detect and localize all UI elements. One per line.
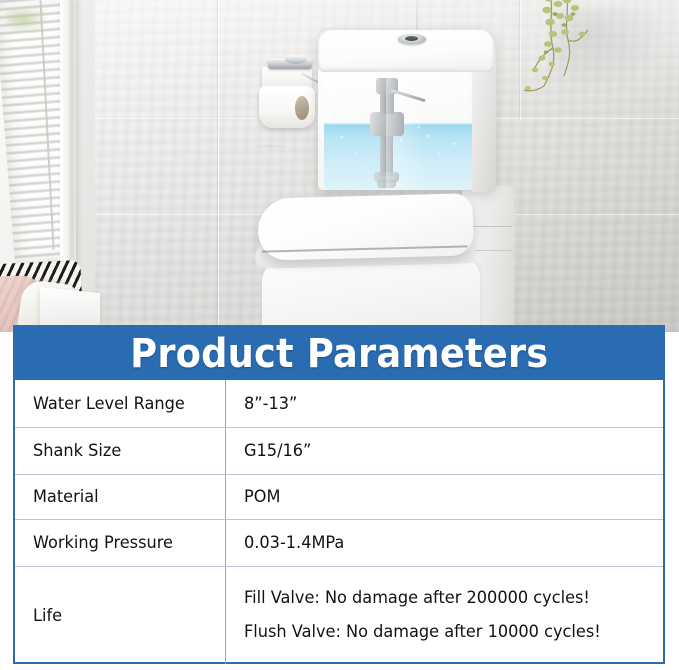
product-parameters-table: Product Parameters Water Level Range 8”-… xyxy=(13,325,665,664)
tank-lid-edge xyxy=(322,68,490,72)
flush-button-inner xyxy=(405,36,418,41)
page-title: Product Parameters xyxy=(130,334,548,374)
table-row-label: Material xyxy=(15,475,226,519)
table-row-label: Water Level Range xyxy=(15,380,226,427)
label-text: Water Level Range xyxy=(33,394,185,414)
value-text-line-1: Fill Valve: No damage after 200000 cycle… xyxy=(244,582,642,615)
value-text: POM xyxy=(244,487,642,507)
label-text: Life xyxy=(33,606,62,626)
table-row-value: POM xyxy=(226,475,663,519)
tank-cutaway-view xyxy=(324,72,472,190)
product-parameters-page: Product Parameters Water Level Range 8”-… xyxy=(0,0,679,670)
product-photo xyxy=(0,0,679,332)
table-row-value: Fill Valve: No damage after 200000 cycle… xyxy=(226,567,663,664)
table-row: Shank Size G15/16” xyxy=(15,427,663,474)
table-row: Working Pressure 0.03-1.4MPa xyxy=(15,519,663,566)
table-row: Water Level Range 8”-13” xyxy=(15,380,663,427)
value-text: G15/16” xyxy=(244,441,642,461)
table-row: Material POM xyxy=(15,474,663,519)
value-text: 8”-13” xyxy=(244,394,642,414)
table-row: Life Fill Valve: No damage after 200000 … xyxy=(15,566,663,664)
toilet-bowl xyxy=(262,258,480,332)
tile-grout-line xyxy=(218,0,219,332)
toilet-paper-core xyxy=(295,96,309,120)
label-text: Working Pressure xyxy=(33,533,173,553)
value-text: 0.03-1.4MPa xyxy=(244,533,642,553)
table-row-label: Life xyxy=(15,567,226,664)
table-row-value: G15/16” xyxy=(226,428,663,474)
table-body: Water Level Range 8”-13” Shank Size G15/… xyxy=(15,380,663,664)
table-row-value: 0.03-1.4MPa xyxy=(226,520,663,566)
table-row-label: Shank Size xyxy=(15,428,226,474)
glass-reflection xyxy=(386,72,426,190)
value-text-line-2: Flush Valve: No damage after 10000 cycle… xyxy=(244,616,642,649)
table-row-value: 8”-13” xyxy=(226,380,663,427)
toilet-paper-holder-knob xyxy=(285,55,307,64)
table-row-label: Working Pressure xyxy=(15,520,226,566)
hanging-vine xyxy=(520,0,640,112)
label-text: Shank Size xyxy=(33,441,121,461)
table-header: Product Parameters xyxy=(15,327,663,380)
label-text: Material xyxy=(33,487,99,507)
